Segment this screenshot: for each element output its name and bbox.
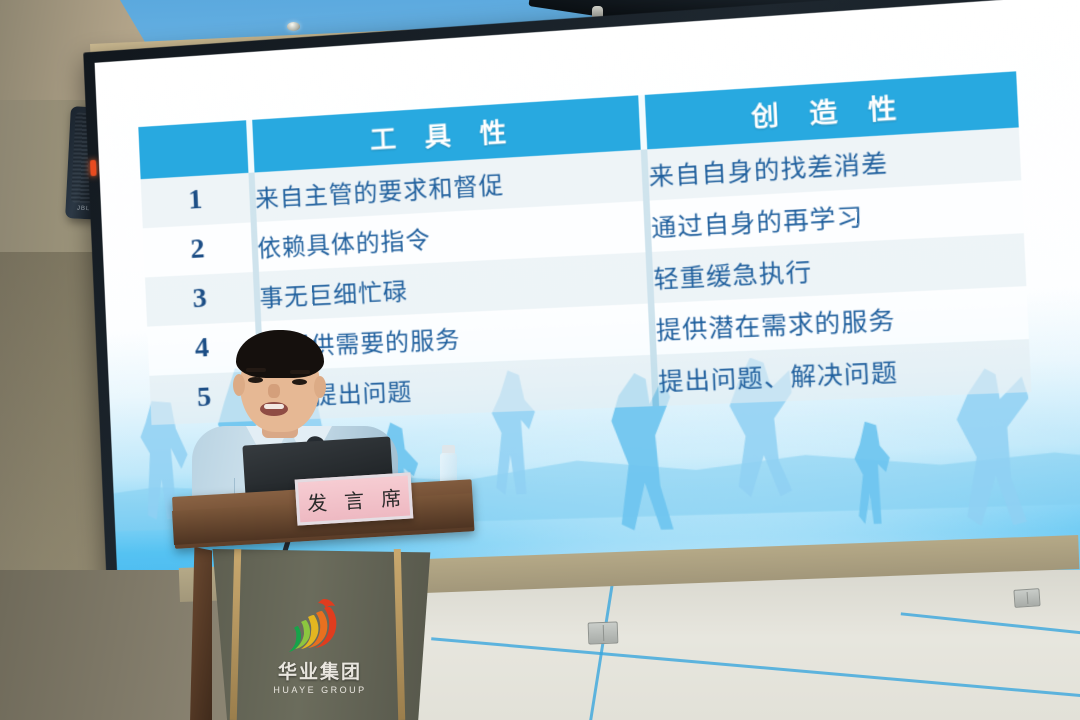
nameplate-text: 发 言 席 xyxy=(300,481,408,517)
row-number: 3 xyxy=(145,272,254,327)
power-indicator-led xyxy=(90,160,97,176)
light-switch-panel[interactable] xyxy=(588,621,619,644)
eye-left xyxy=(248,377,263,383)
floor-stripe xyxy=(901,612,1080,646)
ear-left xyxy=(233,374,245,396)
huaye-logo-mark xyxy=(284,593,346,653)
mouth xyxy=(260,402,288,416)
eye-right xyxy=(292,379,307,385)
nose xyxy=(268,384,280,398)
eyebrow-left xyxy=(246,368,266,372)
scene-root: JBL JBL xyxy=(0,0,1080,720)
ear-right xyxy=(314,376,326,398)
huaye-logo-text: 华业集团 HUAYE GROUP xyxy=(250,657,390,695)
row-number: 1 xyxy=(141,173,250,228)
podium-side-panel xyxy=(190,547,212,720)
podium: 华业集团 HUAYE GROUP 发 言 席 xyxy=(172,497,472,720)
wall-plate[interactable] xyxy=(1013,588,1040,608)
floor-stripe xyxy=(431,637,1080,698)
header-blank xyxy=(139,120,248,179)
row-number: 2 xyxy=(143,222,252,277)
nameplate: 发 言 席 xyxy=(295,472,414,525)
eyebrow-right xyxy=(290,370,310,374)
recessed-spotlight xyxy=(287,22,300,31)
logo-chinese: 华业集团 xyxy=(250,657,390,684)
logo-english: HUAYE GROUP xyxy=(250,685,390,695)
